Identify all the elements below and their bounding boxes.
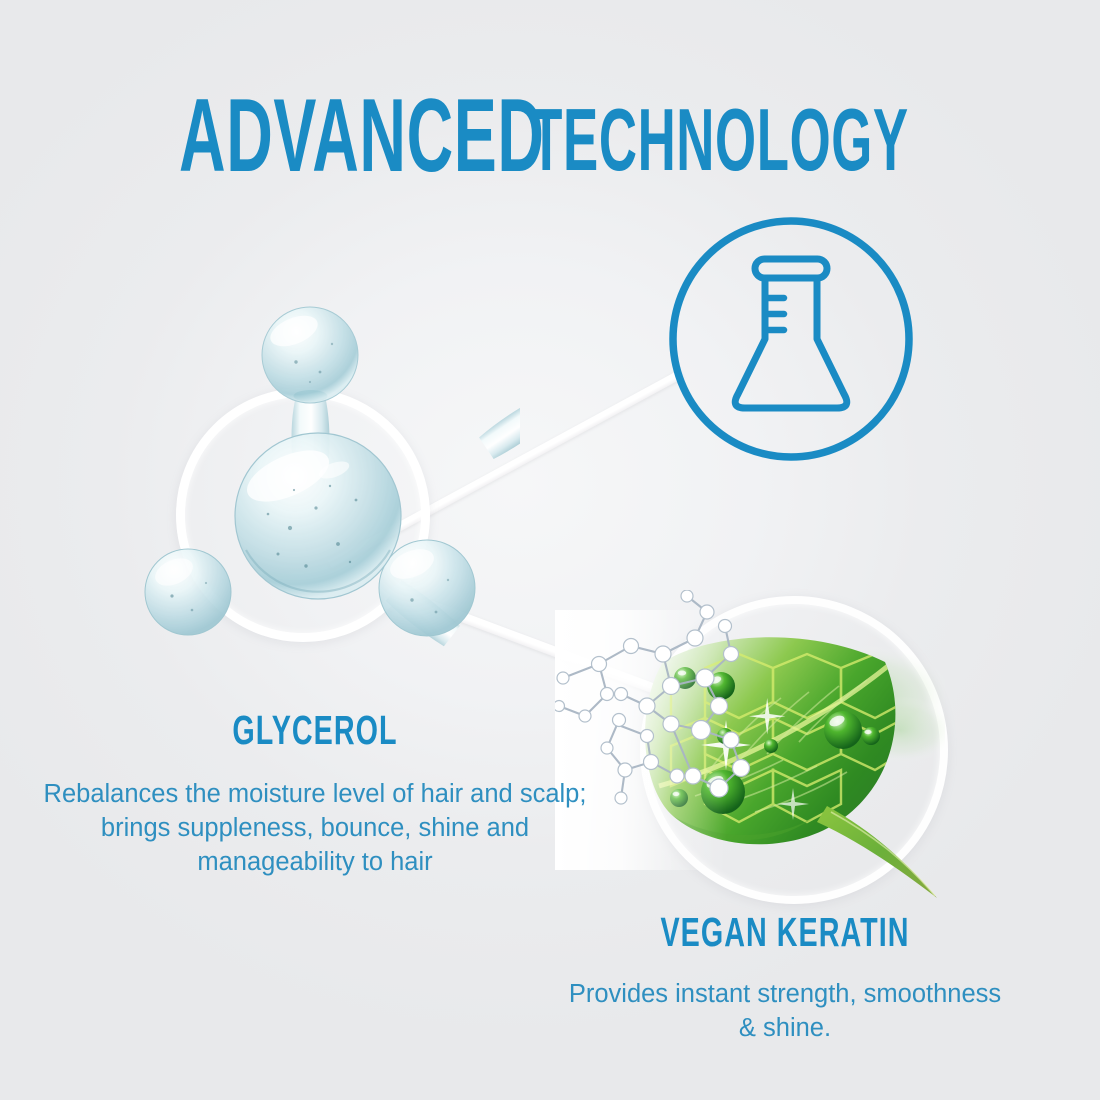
page-title: ADVANCED TECHNOLOGY — [0, 84, 1100, 188]
infographic-canvas: ADVANCED TECHNOLOGY — [0, 0, 1100, 1100]
title-technology: TECHNOLOGY — [530, 96, 909, 184]
glycerol-description: Rebalances the moisture level of hair an… — [35, 778, 595, 880]
vegan-keratin-leaf-graphic — [555, 590, 945, 910]
title-advanced: ADVANCED — [180, 84, 546, 188]
flask-icon — [668, 216, 914, 462]
vegan-keratin-label: VEGAN KERATIN — [628, 912, 943, 953]
glycerol-label: GLYCEROL — [95, 710, 536, 751]
vegan-keratin-description: Provides instant strength, smoothness & … — [565, 978, 1005, 1046]
flask-badge — [668, 216, 914, 462]
water-molecule-graphic — [120, 300, 520, 690]
